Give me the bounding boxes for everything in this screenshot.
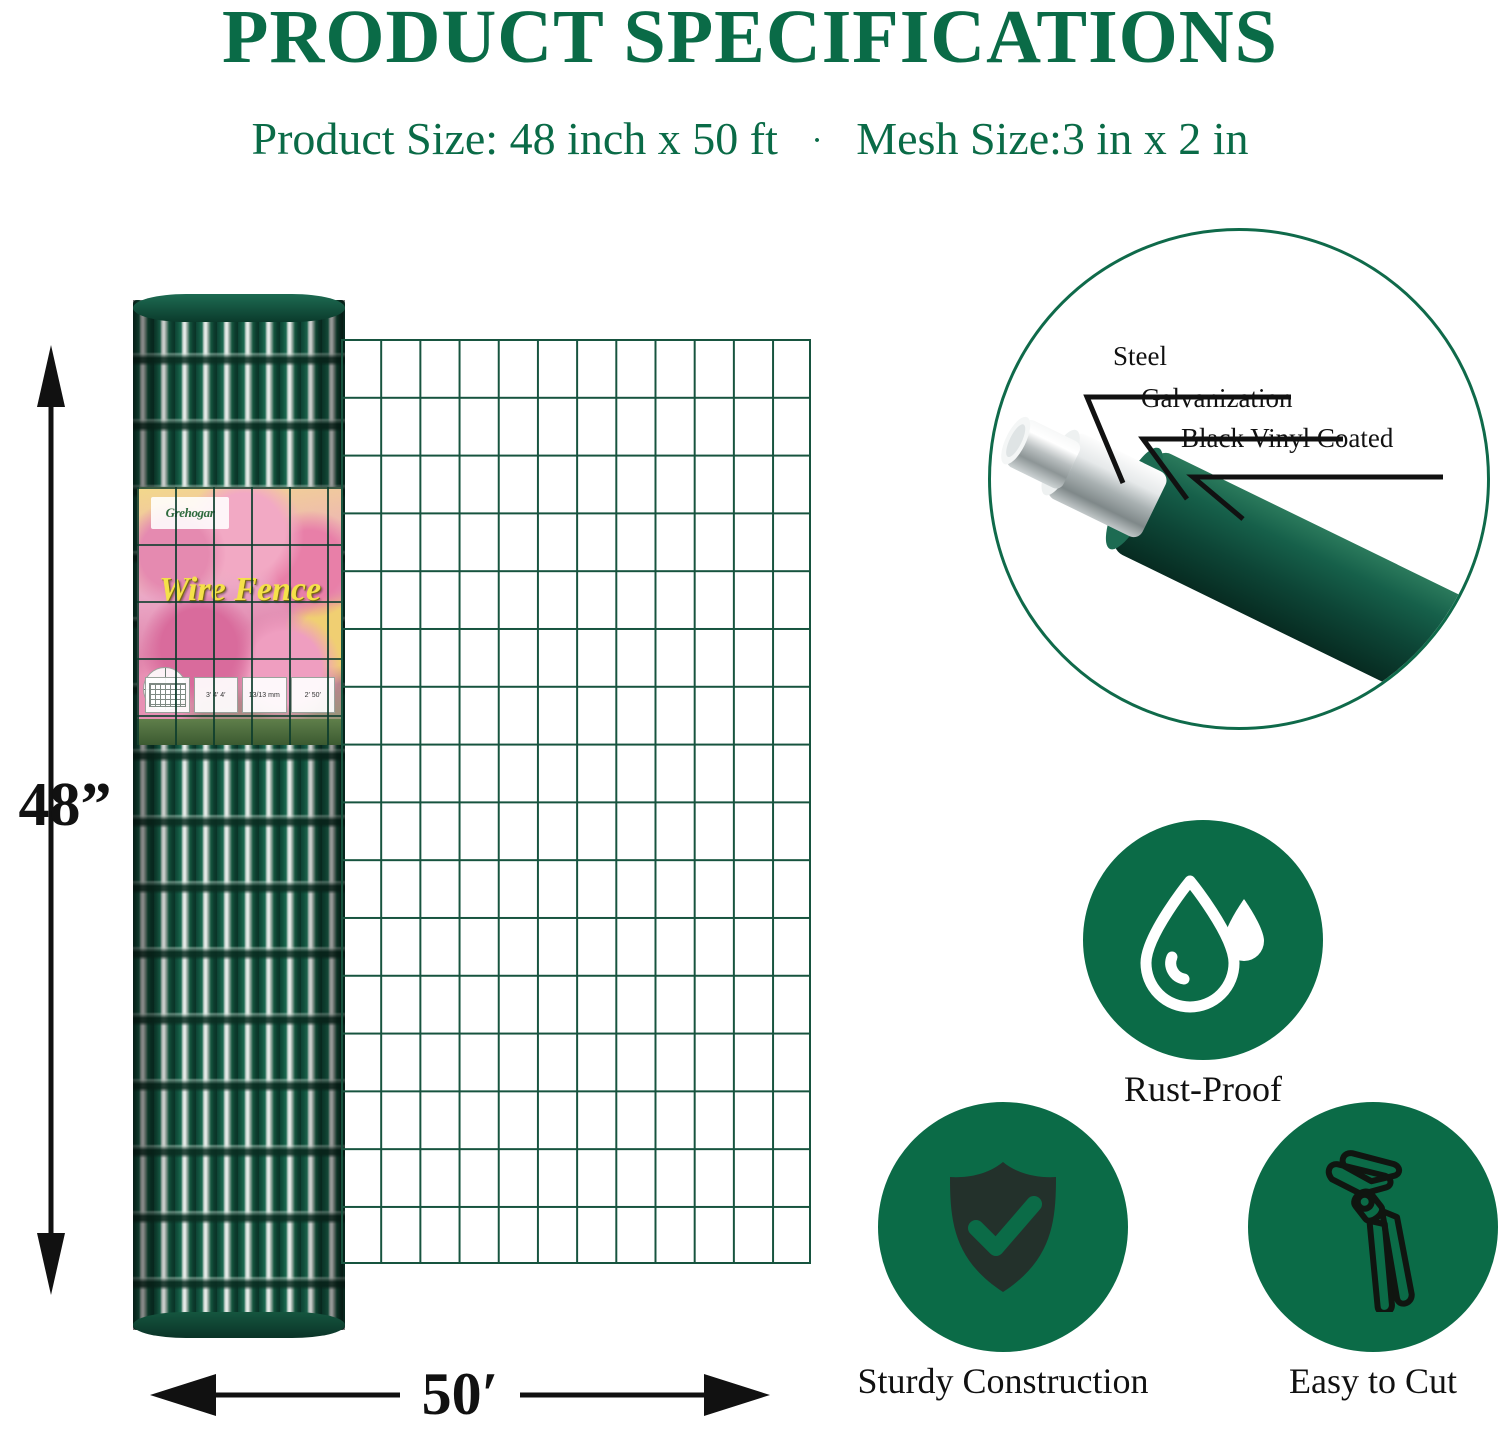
height-label: 48”	[0, 770, 130, 841]
pliers-icon	[1288, 1142, 1458, 1312]
roll-shading-right	[299, 300, 345, 1330]
shield-check-icon	[928, 1152, 1078, 1302]
roll-shading-left	[133, 300, 173, 1330]
wire-mesh-panel	[341, 339, 811, 1264]
wire-roll	[133, 300, 345, 1330]
feature-label: Easy to Cut	[1233, 1360, 1500, 1402]
wire-construction-diagram: Steel Galvanization Black Vinyl Coated	[988, 228, 1490, 730]
callout-galvanization: Galvanization	[1141, 383, 1292, 414]
feature-circle	[1248, 1102, 1498, 1352]
subtitle-separator: ·	[789, 122, 844, 159]
roll-bottom-edge	[133, 1312, 345, 1338]
feature-label: Sturdy Construction	[813, 1360, 1193, 1402]
feature-sturdy-construction: Sturdy Construction	[878, 1102, 1128, 1402]
label-overlay-wires	[137, 487, 343, 745]
feature-circle	[1083, 820, 1323, 1060]
page-title: PRODUCT SPECIFICATIONS	[0, 0, 1500, 81]
width-label: 50′	[400, 1360, 520, 1429]
feature-easy-to-cut: Easy to Cut	[1248, 1102, 1498, 1402]
product-size-label: Product Size: 48 inch x 50 ft	[252, 113, 778, 164]
subtitle: Product Size: 48 inch x 50 ft · Mesh Siz…	[0, 112, 1500, 165]
product-specifications-infographic: PRODUCT SPECIFICATIONS Product Size: 48 …	[0, 0, 1500, 1433]
roll-top-edge	[133, 294, 345, 322]
callout-steel: Steel	[1113, 341, 1167, 372]
feature-rust-proof: Rust-Proof	[1083, 820, 1323, 1110]
product-label: Grehogar Wire Fence 3′ 4′ 4′ 13/13 mm 2′…	[137, 487, 343, 745]
mesh-size-label: Mesh Size:3 in x 2 in	[856, 113, 1248, 164]
callout-black-vinyl-coated: Black Vinyl Coated	[1181, 423, 1393, 454]
feature-circle	[878, 1102, 1128, 1352]
water-drop-icon	[1128, 865, 1278, 1015]
